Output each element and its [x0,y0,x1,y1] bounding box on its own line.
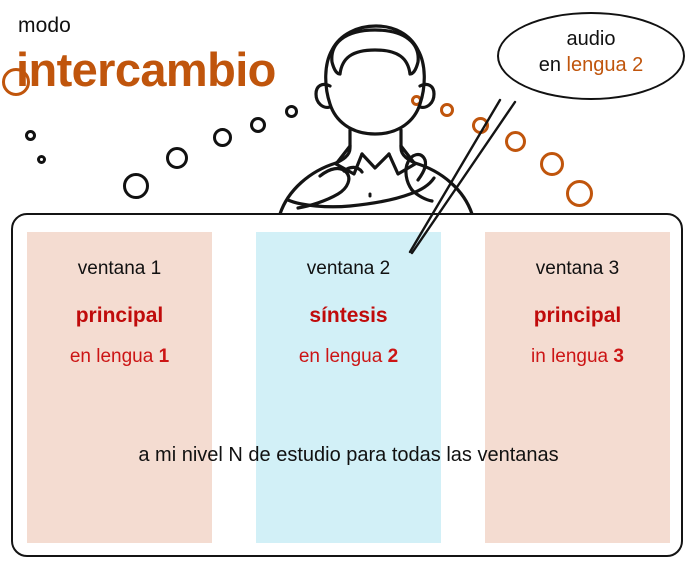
window-language-prefix: en lengua [70,346,159,367]
page-kicker: modo [18,14,71,38]
orange-bubble-icon-6 [566,180,593,207]
speech-line-2: en lengua 2 [497,52,685,78]
column-gap [453,232,473,543]
window-language: en lengua 1 [27,346,212,368]
speech-line-2-accent: lengua 2 [567,54,644,76]
person-illustration-icon [258,8,498,216]
column-gap [224,232,244,543]
window-label: ventana 2 [256,258,441,280]
window-language: in lengua 3 [485,346,670,368]
dark-bubble-icon-2 [166,147,188,169]
window-column-2[interactable]: ventana 2síntesisen lengua 2 [256,232,441,543]
window-language-number: 3 [613,346,624,367]
window-mode: principal [27,304,212,328]
window-column-content: ventana 1principalen lengua 1 [27,232,212,368]
dark-bubble-icon-7 [37,155,46,164]
orange-bubble-icon-7 [2,68,30,96]
speech-line-1: audio [497,26,685,52]
orange-bubble-icon-5 [540,152,564,176]
window-label: ventana 3 [485,258,670,280]
window-column-3[interactable]: ventana 3principalin lengua 3 [485,232,670,543]
diagram-canvas: modo intercambio [0,0,695,571]
page-title: intercambio [16,42,276,97]
speech-bubble-text: audio en lengua 2 [497,26,685,79]
dark-bubble-icon-6 [25,130,36,141]
speech-line-2-prefix: en [539,54,567,76]
window-mode: principal [485,304,670,328]
window-language-number: 1 [159,346,170,367]
window-language: en lengua 2 [256,346,441,368]
orange-bubble-icon-4 [505,131,526,152]
window-column-content: ventana 3principalin lengua 3 [485,232,670,368]
window-column-1[interactable]: ventana 1principalen lengua 1 [27,232,212,543]
windows-columns: ventana 1principalen lengua 1ventana 2sí… [27,232,670,543]
window-mode: síntesis [256,304,441,328]
window-language-prefix: in lengua [531,346,613,367]
window-label: ventana 1 [27,258,212,280]
window-language-number: 2 [388,346,399,367]
dark-bubble-icon-3 [213,128,232,147]
window-column-content: ventana 2síntesisen lengua 2 [256,232,441,368]
dark-bubble-icon-1 [123,173,149,199]
window-language-prefix: en lengua [299,346,388,367]
